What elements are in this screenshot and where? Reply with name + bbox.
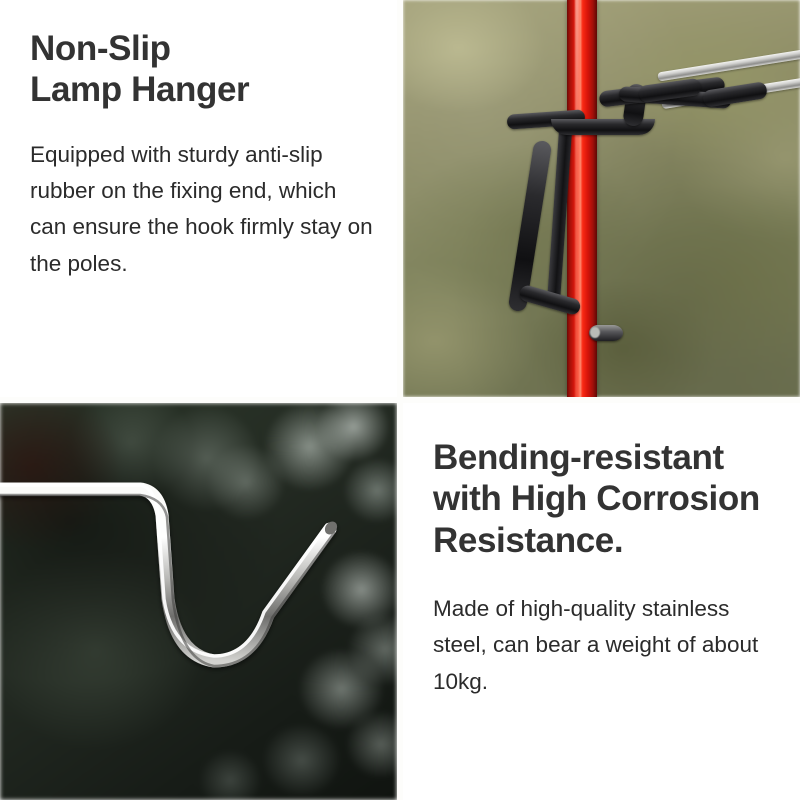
product-infographic: Non-Slip Lamp Hanger Equipped with sturd… [0, 0, 800, 800]
panel-headline-top-left: Non-Slip Lamp Hanger [30, 0, 375, 111]
pole-locking-pin [589, 325, 623, 341]
panel-body-top-left: Equipped with sturdy anti-slip rubber on… [30, 111, 375, 283]
photo-hook-on-red-pole [403, 0, 800, 397]
panel-body-bottom-right: Made of high-quality stainless steel, ca… [433, 561, 778, 700]
panel-headline-bottom-right: Bending-resistant with High Corrosion Re… [433, 403, 778, 561]
panel-bending-resistant: Bending-resistant with High Corrosion Re… [403, 403, 800, 800]
horizontal-divider [0, 397, 800, 403]
panel-non-slip-lamp-hanger: Non-Slip Lamp Hanger Equipped with sturd… [0, 0, 397, 397]
photo-steel-hook-closeup [0, 403, 397, 800]
stainless-steel-hook [0, 403, 397, 800]
pole-highlight [575, 0, 579, 397]
